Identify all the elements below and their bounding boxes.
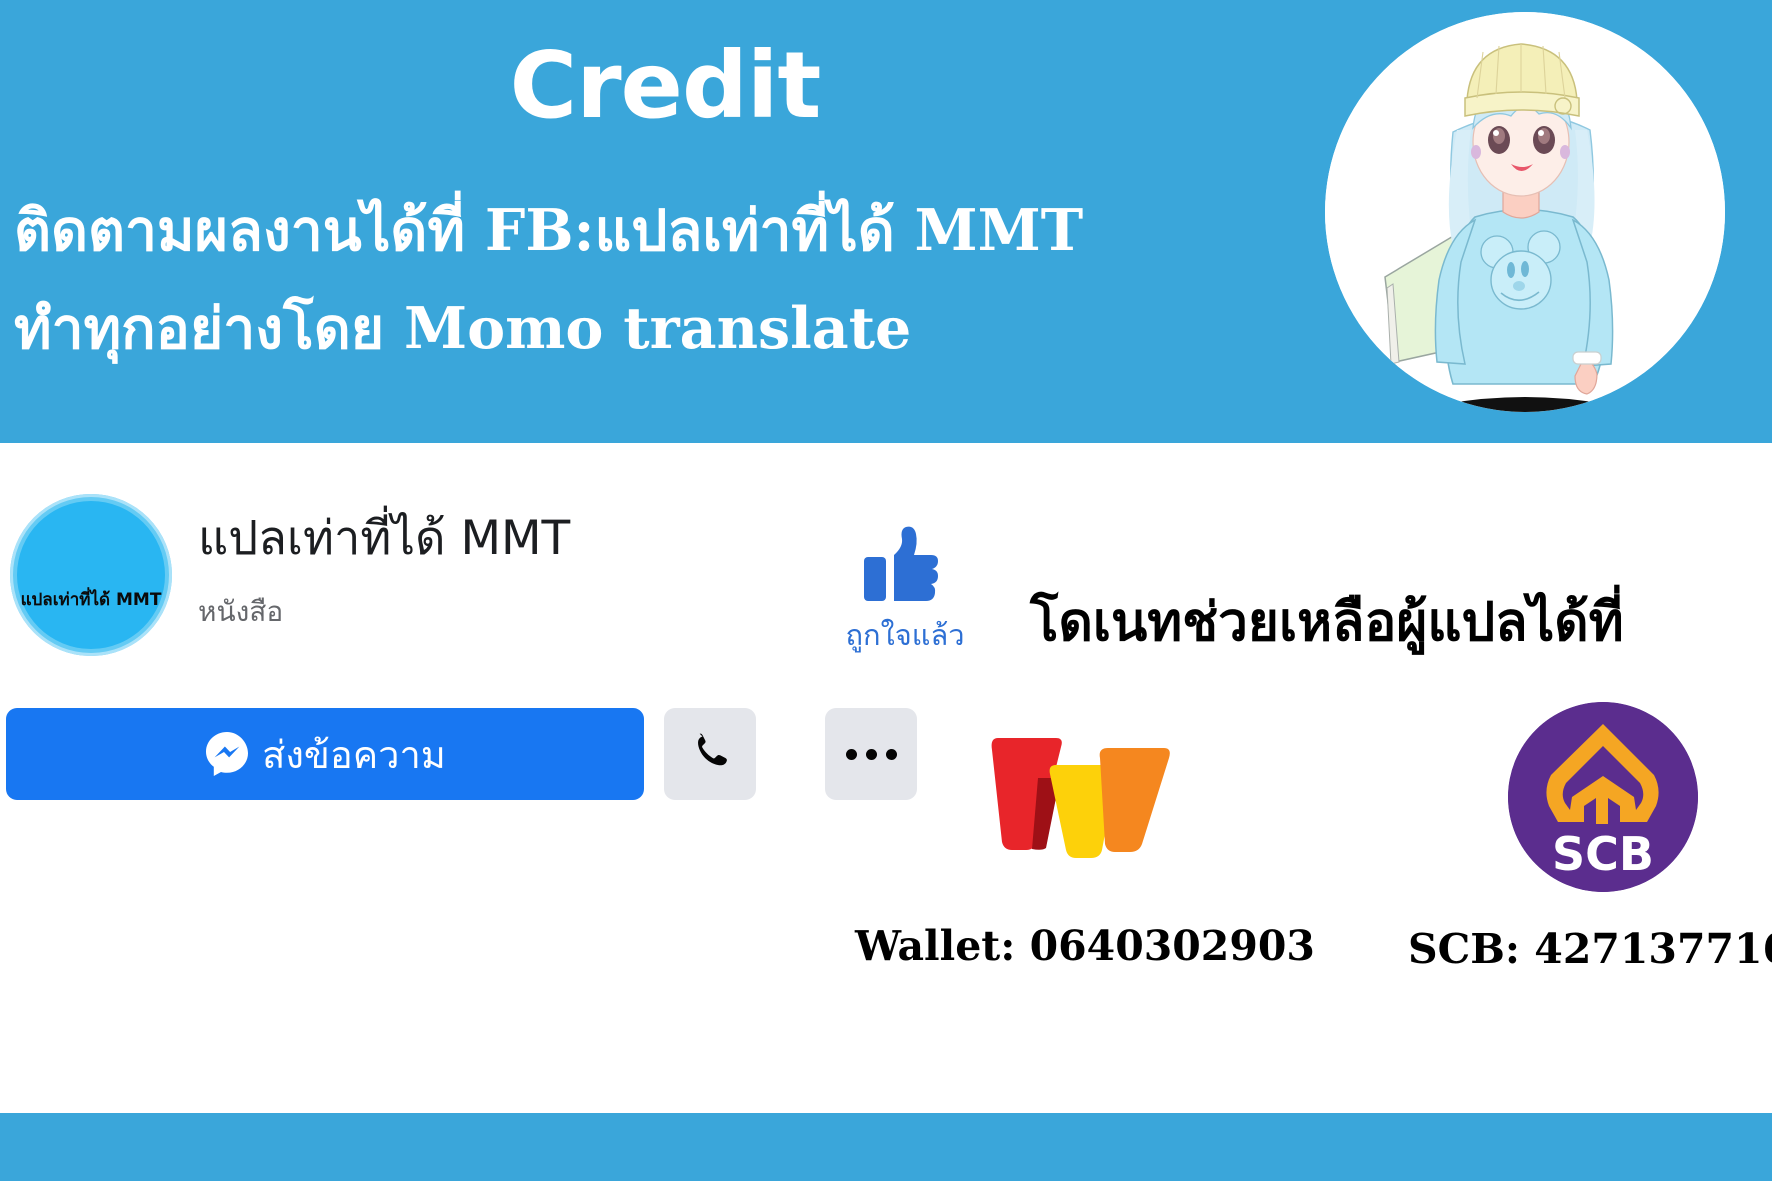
thumbs-up-icon (820, 525, 990, 608)
profile-ring (10, 494, 172, 656)
more-options-button[interactable] (825, 708, 917, 800)
truemoney-wallet-logo (990, 730, 1170, 865)
call-button[interactable] (664, 708, 756, 800)
wallet-account-text: Wallet: 0640302903 (855, 922, 1315, 970)
header-banner: Credit ติดตามผลงานได้ที่ FB:แปลเท่าที่ได… (0, 0, 1772, 443)
footer-bar (0, 1113, 1772, 1181)
page-profile-picture[interactable]: แปลเท่าที่ได้ MMT (6, 490, 176, 660)
ellipsis-icon (846, 749, 897, 760)
send-message-button[interactable]: ส่งข้อความ (6, 708, 644, 800)
donate-heading: โดเนทช่วยเหลือผู้แปลได้ที่ (1030, 580, 1624, 664)
profile-logo-text: แปลเท่าที่ได้ MMT (6, 586, 176, 613)
anime-girl-avatar-illustration (1325, 12, 1725, 412)
messenger-icon (204, 730, 250, 779)
scb-logo-label: SCB (1552, 827, 1654, 881)
header-credit-line-1: ติดตามผลงานได้ที่ FB:แปลเท่าที่ได้ MMT (14, 200, 1083, 263)
avatar (1325, 12, 1725, 412)
page-title: Credit (0, 38, 1330, 135)
like-label: ถูกใจแล้ว (820, 612, 990, 658)
like-status[interactable]: ถูกใจแล้ว (820, 525, 990, 658)
scb-bank-logo: SCB (1508, 702, 1698, 892)
header-separator (0, 443, 1772, 447)
page-name[interactable]: แปลเท่าที่ได้ MMT (198, 500, 570, 575)
scb-account-text: SCB: 4271377161 (1408, 925, 1772, 973)
credit-slide: Credit ติดตามผลงานได้ที่ FB:แปลเท่าที่ได… (0, 0, 1772, 1181)
page-category: หนังสือ (198, 590, 283, 634)
phone-icon (690, 733, 730, 776)
header-credit-line-2: ทำทุกอย่างโดย Momo translate (14, 298, 911, 361)
send-message-label: ส่งข้อความ (262, 724, 446, 785)
